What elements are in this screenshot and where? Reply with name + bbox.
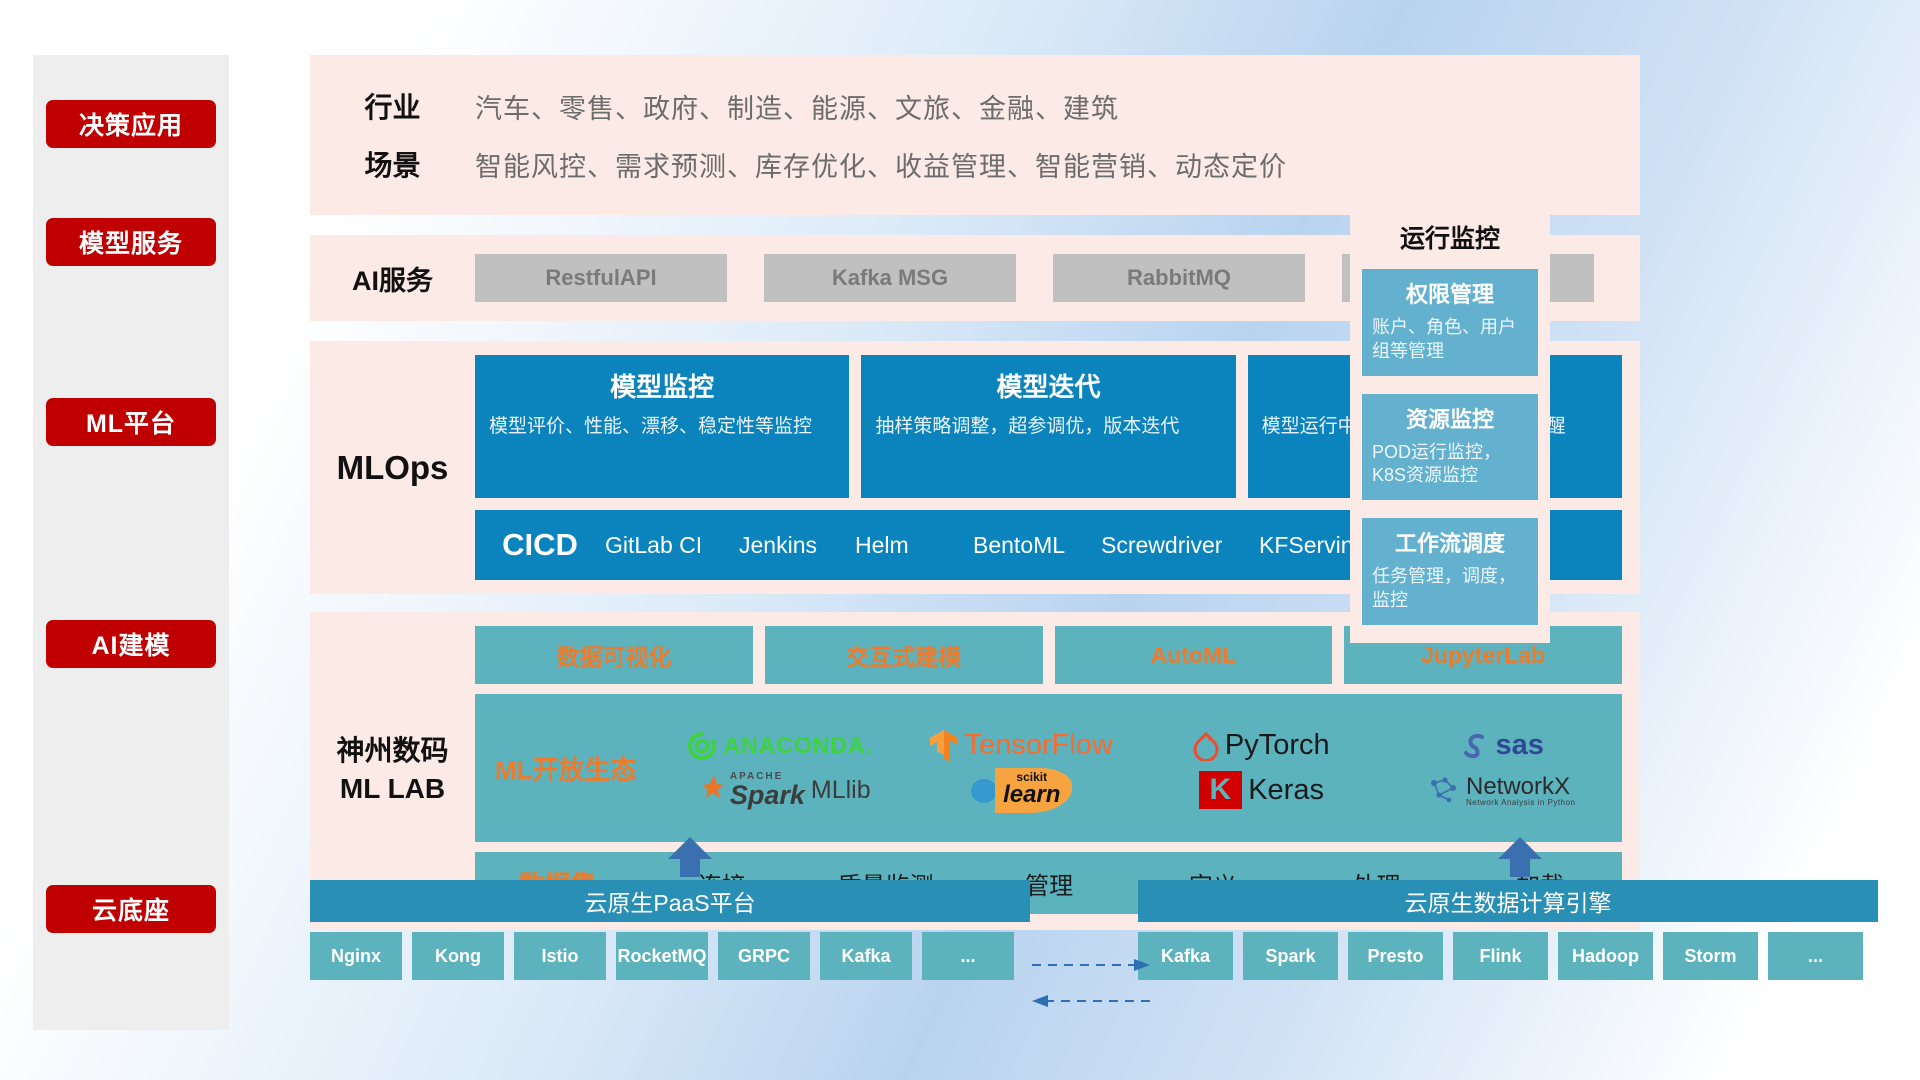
keras-mark-icon: K [1199,771,1243,809]
networkx-graph-icon [1428,775,1460,805]
ai-service-chip-kafka-msg[interactable]: Kafka MSG [764,254,1016,302]
card-title: 模型迭代 [875,367,1221,404]
tab-label: 数据可视化 [556,638,671,672]
engine-chip-flink[interactable]: Flink [1453,932,1548,980]
paas-chip-rocketmq[interactable]: RocketMQ [616,932,708,980]
monitor-card-resource[interactable]: 资源监控 POD运行监控，K8S资源监控 [1362,394,1538,501]
anaconda-mark-icon [687,731,717,761]
main-stack: 行业 汽车、零售、政府、制造、能源、文旅、金融、建筑 场景 智能风控、需求预测、… [310,55,1880,930]
paas-chip-kafka[interactable]: Kafka [820,932,912,980]
chip-label: RabbitMQ [1127,265,1231,291]
cicd-item-gitlab-ci[interactable]: GitLab CI [605,533,739,557]
scenario-key: 场景 [310,144,475,184]
ml-ecosystem-box: ML开放生态 ANACONDA. [475,694,1622,842]
rail-label: 决策应用 [79,106,183,142]
paas-group: 云原生PaaS平台 Nginx Kong Istio RocketMQ GRPC… [310,880,1030,980]
engine-chip-kafka[interactable]: Kafka [1138,932,1233,980]
keras-logo: K Keras [1141,771,1382,809]
modeling-key-line2: ML LAB [310,770,475,808]
ai-service-key: AI服务 [310,259,475,298]
keras-wordmark: Keras [1248,774,1324,807]
rail-label: AI建模 [91,626,170,662]
rail-item-ml-platform[interactable]: ML平台 [46,398,216,446]
card-title: 权限管理 [1372,277,1528,309]
tab-label: JupyterLab [1421,642,1545,669]
tab-data-visualization[interactable]: 数据可视化 [475,626,753,684]
scenario-row: 场景 智能风控、需求预测、库存优化、收益管理、智能营销、动态定价 [310,135,1640,193]
pytorch-logo: PyTorch [1141,729,1382,762]
tensorflow-logo: TensorFlow [901,729,1142,763]
card-title: 资源监控 [1372,402,1528,434]
ml-ecosystem-logo-grid: ANACONDA. TensorFlow [660,723,1622,813]
chip-label: Kafka MSG [832,265,948,291]
engine-chip-hadoop[interactable]: Hadoop [1558,932,1653,980]
engine-chip-more[interactable]: ... [1768,932,1863,980]
tensorflow-mark-icon [929,729,959,763]
mlops-card-model-iteration[interactable]: 模型迭代 抽样策略调整，超参调优，版本迭代 [861,355,1235,498]
card-desc: 任务管理，调度，监控 [1372,565,1528,613]
rail-item-cloud-base[interactable]: 云底座 [46,885,216,933]
engine-chip-presto[interactable]: Presto [1348,932,1443,980]
cicd-item-bentoml[interactable]: BentoML [973,533,1101,557]
paas-chip-istio[interactable]: Istio [514,932,606,980]
data-engine-group: 云原生数据计算引擎 Kafka Spark Presto Flink Hadoo… [1138,880,1878,980]
spark-mllib-logo: APACHE Spark MLlib [660,772,901,809]
engine-chip-spark[interactable]: Spark [1243,932,1338,980]
scikit-learn-wordmark: learn [1003,784,1060,807]
industry-band: 行业 汽车、零售、政府、制造、能源、文旅、金融、建筑 场景 智能风控、需求预测、… [310,55,1640,215]
tab-automl[interactable]: AutoML [1055,626,1333,684]
engine-chip-storm[interactable]: Storm [1663,932,1758,980]
cicd-item-screwdriver[interactable]: Screwdriver [1101,533,1259,557]
anaconda-wordmark: ANACONDA. [723,732,873,759]
card-desc: POD运行监控，K8S资源监控 [1372,441,1528,489]
scikit-learn-logo: scikit learn [901,768,1142,813]
card-desc: 抽样策略调整，超参调优，版本迭代 [875,414,1221,441]
industry-value: 汽车、零售、政府、制造、能源、文旅、金融、建筑 [475,87,1119,126]
modeling-key-line1: 神州数码 [310,732,475,770]
ai-service-chip-rabbitmq[interactable]: RabbitMQ [1053,254,1305,302]
rail-label: 云底座 [92,891,170,927]
card-desc: 模型评价、性能、漂移、稳定性等监控 [489,414,835,441]
data-engine-header: 云原生数据计算引擎 [1138,880,1878,922]
chip-label: RestfulAPI [545,265,656,291]
modeling-content: 数据可视化 交互式建模 AutoML JupyterLab ML开放生态 [475,626,1640,914]
spark-star-icon [690,773,724,807]
scenario-value: 智能风控、需求预测、库存优化、收益管理、智能营销、动态定价 [475,145,1287,184]
card-title: 工作流调度 [1372,526,1528,558]
ml-ecosystem-label: ML开放生态 [495,750,660,787]
rail-item-model-service[interactable]: 模型服务 [46,218,216,266]
mlops-key: MLOps [310,449,475,487]
paas-chip-list: Nginx Kong Istio RocketMQ GRPC Kafka ... [310,932,1030,980]
sas-mark-icon [1460,731,1490,761]
runtime-monitor-title: 运行监控 [1362,219,1538,255]
rail-item-ai-modeling[interactable]: AI建模 [46,620,216,668]
anaconda-logo: ANACONDA. [660,731,901,761]
cicd-item-helm[interactable]: Helm [855,533,973,557]
sas-wordmark: sas [1496,729,1544,762]
networkx-tagline: Network Analysis in Python [1466,799,1576,807]
monitor-card-permission[interactable]: 权限管理 账户、角色、用户组等管理 [1362,269,1538,376]
pytorch-mark-icon [1193,731,1219,761]
cicd-item-jenkins[interactable]: Jenkins [739,533,855,557]
networkx-wordmark: NetworkX [1466,774,1576,799]
mllib-wordmark: MLlib [811,776,871,805]
rail-label: 模型服务 [79,224,183,260]
cicd-title: CICD [475,527,605,563]
dashed-connector-arrows [1032,955,1152,1015]
paas-chip-kong[interactable]: Kong [412,932,504,980]
cloud-base-section: 云原生PaaS平台 Nginx Kong Istio RocketMQ GRPC… [310,880,1890,980]
rail-label: ML平台 [86,404,176,440]
networkx-logo: NetworkX Network Analysis in Python [1382,774,1623,808]
arrow-up-paas-icon [660,837,720,877]
industry-row: 行业 汽车、零售、政府、制造、能源、文旅、金融、建筑 [310,77,1640,135]
paas-header: 云原生PaaS平台 [310,880,1030,922]
industry-key: 行业 [310,86,475,126]
tab-label: 交互式建模 [846,638,961,672]
card-title: 模型监控 [489,367,835,404]
card-desc: 账户、角色、用户组等管理 [1372,316,1528,364]
tab-label: AutoML [1151,642,1237,669]
rail-item-decision[interactable]: 决策应用 [46,100,216,148]
paas-chip-more[interactable]: ... [922,932,1014,980]
modeling-key: 神州数码 ML LAB [310,732,475,808]
arrow-up-data-engine-icon [1490,837,1550,877]
paas-chip-nginx[interactable]: Nginx [310,932,402,980]
monitor-card-workflow[interactable]: 工作流调度 任务管理，调度，监控 [1362,518,1538,625]
tab-interactive-modeling[interactable]: 交互式建模 [765,626,1043,684]
pytorch-wordmark: PyTorch [1225,729,1330,762]
paas-chip-grpc[interactable]: GRPC [718,932,810,980]
spark-wordmark: Spark [730,780,805,810]
data-engine-chip-list: Kafka Spark Presto Flink Hadoop Storm ..… [1138,932,1878,980]
ai-service-chip-restfulapi[interactable]: RestfulAPI [475,254,727,302]
mlops-card-model-monitoring[interactable]: 模型监控 模型评价、性能、漂移、稳定性等监控 [475,355,849,498]
runtime-monitor-panel: 运行监控 权限管理 账户、角色、用户组等管理 资源监控 POD运行监控，K8S资… [1350,205,1550,643]
left-rail: 决策应用 模型服务 ML平台 AI建模 云底座 [33,55,229,1030]
tensorflow-wordmark: TensorFlow [965,729,1113,762]
sas-logo: sas [1382,729,1623,762]
